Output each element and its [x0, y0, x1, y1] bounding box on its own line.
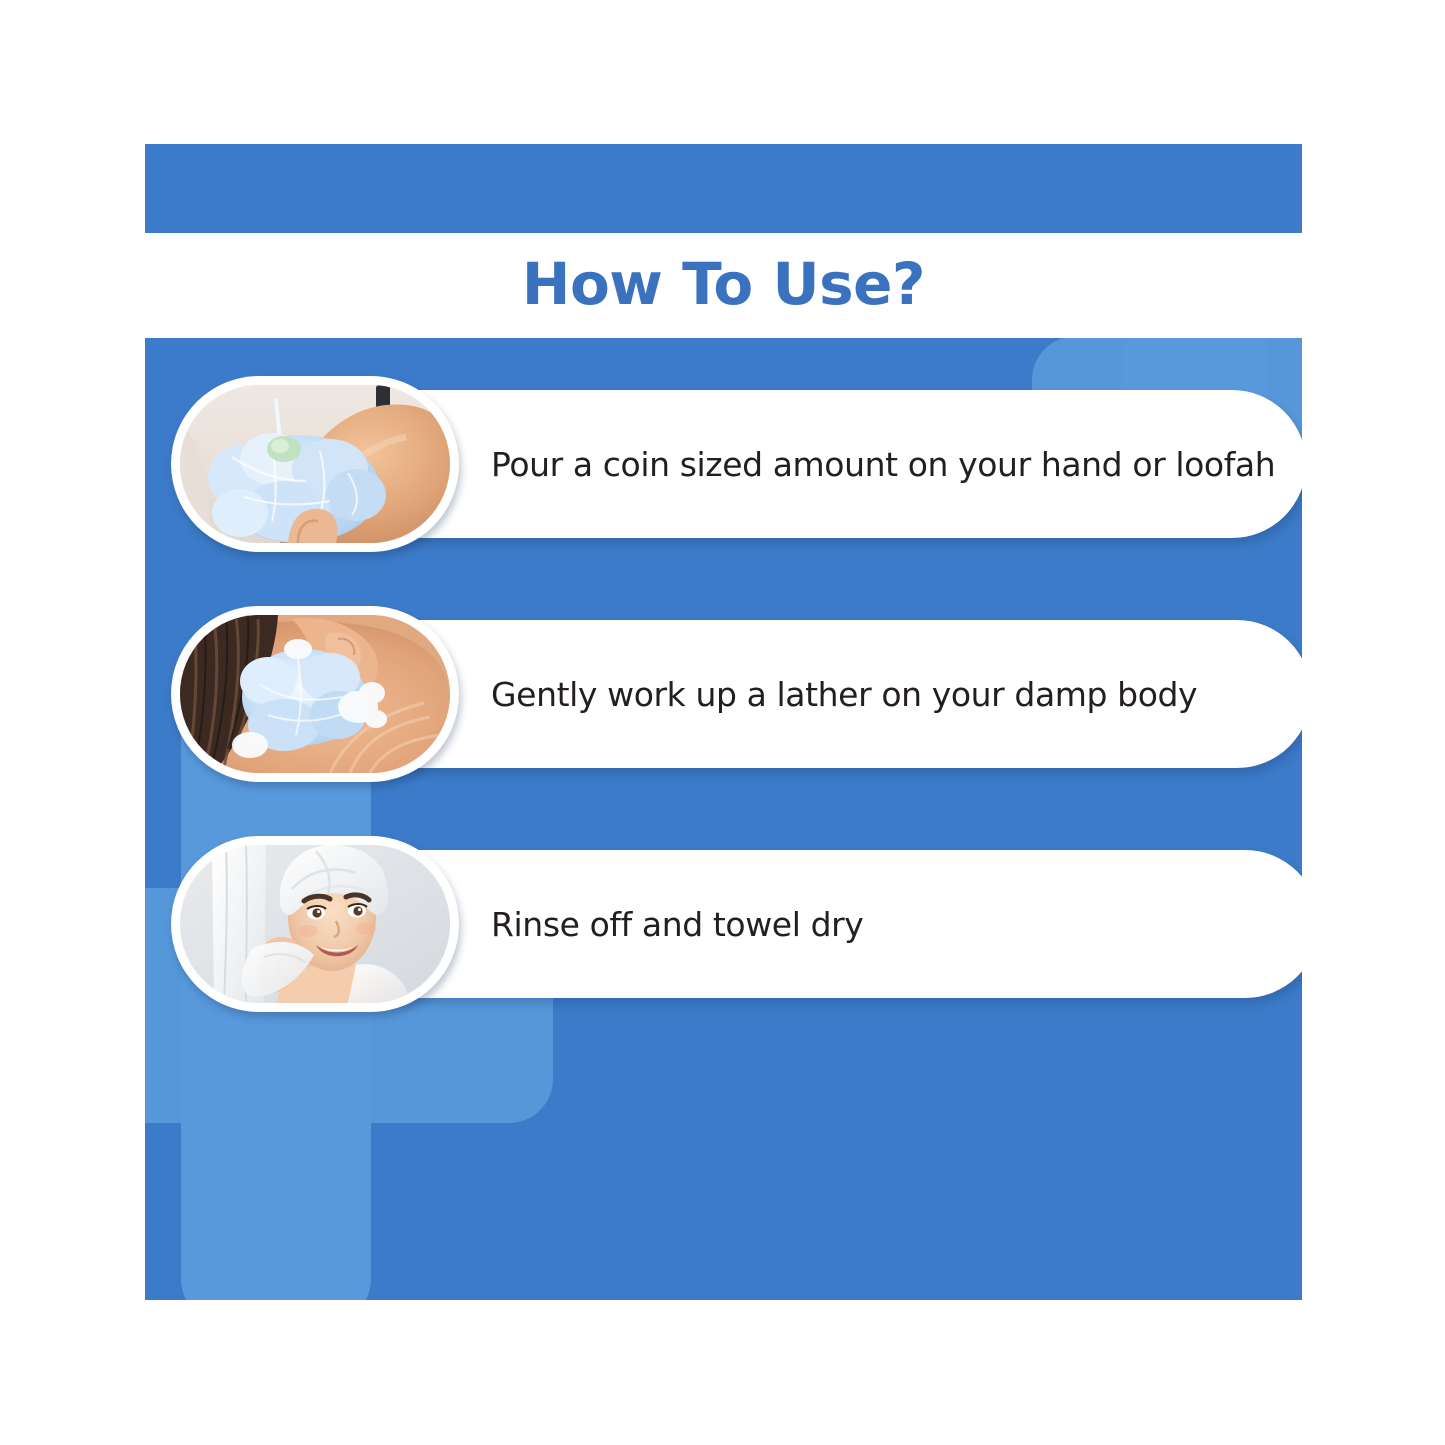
page-title: How To Use? — [522, 255, 925, 313]
step-thumbnail — [171, 836, 459, 1012]
loofah-with-soap-illustration — [180, 385, 450, 543]
towel-dry-face-photo — [180, 845, 450, 1003]
steps-list: Pour a coin sized amount on your hand or… — [145, 338, 1302, 1300]
lathering-shoulder-photo — [180, 615, 450, 773]
lathering-shoulder-illustration — [180, 615, 450, 773]
top-blue-banner — [145, 144, 1302, 233]
towel-dry-face-illustration — [180, 845, 450, 1003]
title-band: How To Use? — [145, 233, 1302, 338]
steps-panel: Pour a coin sized amount on your hand or… — [145, 338, 1302, 1300]
step-thumbnail — [171, 376, 459, 552]
step-thumbnail — [171, 606, 459, 782]
infographic-canvas: How To Use? Pour a coin sized amount on … — [0, 0, 1445, 1445]
loofah-with-soap-photo — [180, 385, 450, 543]
